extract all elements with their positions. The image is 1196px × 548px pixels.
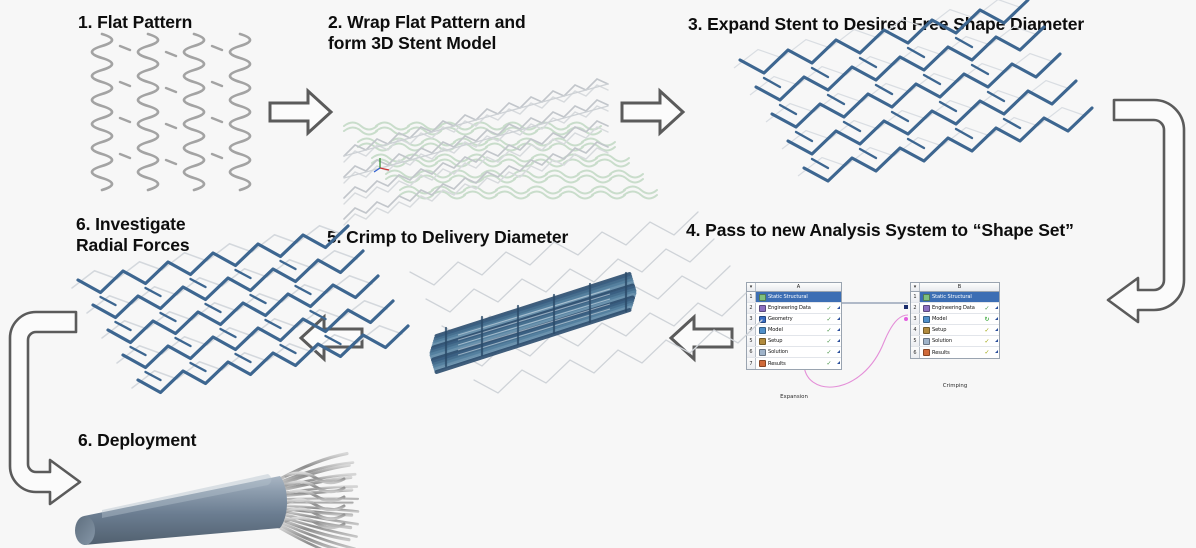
catheter-deployment bbox=[72, 452, 392, 548]
static-structural-icon bbox=[920, 294, 932, 301]
update-corner-icon bbox=[834, 361, 841, 366]
arrow-step3-to-step4 bbox=[1098, 92, 1194, 342]
system-a-row-3[interactable]: 3 Geometry ✓ bbox=[747, 314, 841, 325]
system-b-row-5[interactable]: 5 Solution ✓ bbox=[911, 336, 999, 347]
diagram-canvas: 1. Flat Pattern 2. Wrap Flat Pattern and… bbox=[0, 0, 1196, 548]
step5-label: 5. Crimp to Delivery Diameter bbox=[327, 227, 568, 248]
system-a-row-5[interactable]: 5 Setup ✓ bbox=[747, 336, 841, 347]
step4-label: 4. Pass to new Analysis System to “Shape… bbox=[686, 220, 1074, 241]
results-icon bbox=[756, 360, 768, 367]
system-b-caption: Crimping bbox=[910, 383, 1000, 389]
column-filter-icon[interactable]: ▾ bbox=[747, 283, 756, 291]
solution-icon bbox=[756, 349, 768, 356]
workbench-system-a[interactable]: ▾ A 1 Static Structural 2 Engineering Da… bbox=[746, 282, 842, 370]
setup-icon bbox=[756, 338, 768, 345]
column-filter-icon[interactable]: ▾ bbox=[911, 283, 920, 291]
system-b-row-3[interactable]: 3 Model ↻ bbox=[911, 314, 999, 325]
status-check-icon: ✓ bbox=[982, 349, 992, 356]
expanded-blue-stent bbox=[726, 44, 1026, 204]
update-corner-icon bbox=[992, 328, 999, 333]
system-a-row-7[interactable]: 7 Results ✓ bbox=[747, 358, 841, 369]
port-model[interactable] bbox=[904, 317, 908, 321]
model-icon bbox=[920, 316, 932, 323]
geometry-icon bbox=[756, 316, 768, 323]
status-check-icon: ✓ bbox=[824, 349, 834, 356]
crimped-blue-stent bbox=[398, 258, 673, 408]
arrow-step2-to-step3 bbox=[620, 86, 686, 138]
system-a-row-6[interactable]: 6 Solution ✓ bbox=[747, 347, 841, 358]
system-a-column-letter: A bbox=[756, 284, 841, 290]
status-check-icon: ✓ bbox=[982, 327, 992, 334]
system-a-caption: Expansion bbox=[746, 394, 842, 400]
engineering-data-icon bbox=[920, 305, 932, 312]
step6-label: 6. Investigate Radial Forces bbox=[76, 214, 189, 257]
update-corner-icon bbox=[834, 306, 841, 311]
status-check-icon: ✓ bbox=[824, 305, 834, 312]
status-check-icon: ✓ bbox=[824, 360, 834, 367]
system-b-row-2[interactable]: 2 Engineering Data ✓ bbox=[911, 303, 999, 314]
update-corner-icon bbox=[992, 350, 999, 355]
update-corner-icon bbox=[834, 350, 841, 355]
status-check-icon: ✓ bbox=[824, 327, 834, 334]
system-b-header: ▾ B bbox=[911, 283, 999, 292]
radial-force-blue-stent bbox=[62, 262, 342, 412]
engineering-data-icon bbox=[756, 305, 768, 312]
step2-label: 2. Wrap Flat Pattern and form 3D Stent M… bbox=[328, 12, 526, 55]
port-engineering-data[interactable] bbox=[904, 305, 908, 309]
deployment-label: 6. Deployment bbox=[78, 430, 196, 451]
setup-icon bbox=[920, 327, 932, 334]
update-corner-icon bbox=[992, 339, 999, 344]
update-corner-icon bbox=[834, 328, 841, 333]
workbench-system-b[interactable]: ▾ B 1 Static Structural 2 Engineering Da… bbox=[910, 282, 1000, 359]
update-corner-icon bbox=[992, 306, 999, 311]
system-a-header: ▾ A bbox=[747, 283, 841, 292]
arrow-step1-to-step2 bbox=[268, 86, 334, 138]
model-icon bbox=[756, 327, 768, 334]
system-b-row-6[interactable]: 6 Results ✓ bbox=[911, 347, 999, 358]
results-icon bbox=[920, 349, 932, 356]
status-refresh-icon: ↻ bbox=[982, 316, 992, 323]
arrow-step4-to-step5 bbox=[668, 312, 734, 364]
wrapped-3d-stent-wireframe bbox=[336, 66, 626, 196]
status-check-icon: ✓ bbox=[824, 316, 834, 323]
system-b-row-1[interactable]: 1 Static Structural bbox=[911, 292, 999, 303]
system-a-row-4[interactable]: 4 Model ✓ bbox=[747, 325, 841, 336]
workbench-project-schematic[interactable]: ▾ A 1 Static Structural 2 Engineering Da… bbox=[744, 278, 1034, 408]
update-corner-icon bbox=[992, 317, 999, 322]
solution-icon bbox=[920, 338, 932, 345]
update-corner-icon bbox=[834, 317, 841, 322]
status-check-icon: ✓ bbox=[824, 338, 834, 345]
system-a-row-1[interactable]: 1 Static Structural bbox=[747, 292, 841, 303]
status-check-icon: ✓ bbox=[982, 305, 992, 312]
flat-pattern-mesh bbox=[80, 30, 270, 195]
system-a-row-2[interactable]: 2 Engineering Data ✓ bbox=[747, 303, 841, 314]
system-b-column-letter: B bbox=[920, 284, 999, 290]
static-structural-icon bbox=[756, 294, 768, 301]
system-b-row-4[interactable]: 4 Setup ✓ bbox=[911, 325, 999, 336]
status-check-icon: ✓ bbox=[982, 338, 992, 345]
update-corner-icon bbox=[834, 339, 841, 344]
